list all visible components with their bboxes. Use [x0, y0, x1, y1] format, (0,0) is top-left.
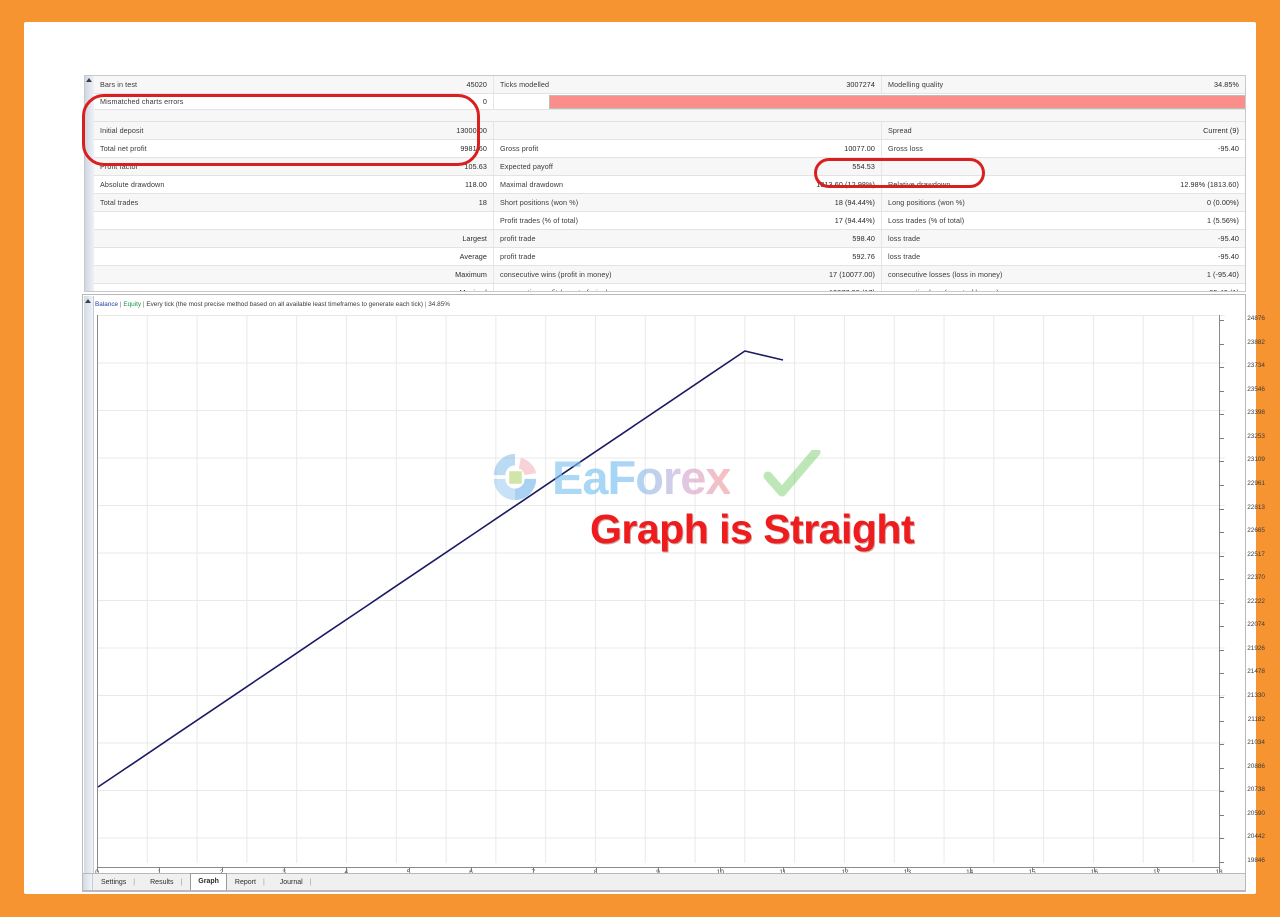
tab-settings[interactable]: Settings| [94, 876, 142, 890]
report-label: Total trades [100, 194, 138, 211]
report-value: -95.40 [1218, 140, 1239, 157]
report-label: Short positions (won %) [500, 194, 578, 211]
report-value: 1 (5.56%) [1207, 212, 1239, 229]
report-cell-c2: Profit trades (% of total)17 (94.44%) [494, 212, 882, 229]
report-value: 554.53 [852, 158, 875, 175]
report-row-spacer [94, 110, 1245, 122]
app-background: Bars in test45020Ticks modelled3007274Mo… [0, 0, 1280, 917]
strategy-tester-report: Bars in test45020Ticks modelled3007274Mo… [84, 75, 1246, 292]
report-label: consecutive loss (count of losses) [888, 284, 999, 292]
y-axis-tick-label: 22665 [1247, 527, 1265, 534]
report-value: 18 (94.44%) [835, 194, 875, 211]
report-label: Modelling quality [888, 76, 943, 93]
y-axis-tick-label: 21330 [1247, 692, 1265, 699]
report-label: Gross loss [888, 140, 923, 157]
y-axis-tick-label: 21034 [1247, 739, 1265, 746]
report-value: 13077.20 (17) [829, 284, 875, 292]
report-label: consecutive losses (loss in money) [888, 266, 1002, 283]
report-cell-c1: Average [94, 248, 494, 265]
report-value: 17 (10077.00) [829, 266, 875, 283]
report-cell-c3: Long positions (won %)0 (0.00%) [882, 194, 1245, 211]
report-row: Initial deposit13000.00SpreadCurrent (9) [94, 122, 1245, 140]
report-cell-c3: SpreadCurrent (9) [882, 122, 1245, 139]
y-axis-tick-label: 23882 [1247, 339, 1265, 346]
report-cell-c3: loss trade-95.40 [882, 248, 1245, 265]
report-value: -95.40 (1) [1207, 284, 1239, 292]
callout-text: Graph is Straight [590, 506, 914, 553]
y-axis-tick-label: 23546 [1247, 386, 1265, 393]
report-label: Profit trades (% of total) [500, 212, 578, 229]
report-cell-c2: Maximal drawdown1813.60 (12.98%) [494, 176, 882, 193]
y-axis-tick-label: 20442 [1247, 833, 1265, 840]
report-label: profit trade [500, 248, 536, 265]
report-value: -95.40 [1218, 248, 1239, 265]
report-cell-c2: Short positions (won %)18 (94.44%) [494, 194, 882, 211]
report-value: 45020 [467, 76, 488, 93]
report-value: 12.98% (1813.60) [1180, 176, 1239, 193]
report-cell-c2: profit trade598.40 [494, 230, 882, 247]
y-axis-tick-label: 22517 [1247, 551, 1265, 558]
y-axis-tick-label: 21182 [1248, 716, 1265, 723]
report-label: Ticks modelled [500, 76, 549, 93]
report-cell-c2: Ticks modelled3007274 [494, 76, 882, 93]
report-label: Relative drawdown [888, 176, 950, 193]
report-cell-c1: Bars in test45020 [94, 76, 494, 93]
report-row: Profit trades (% of total)17 (94.44%)Los… [94, 212, 1245, 230]
report-label: profit trade [500, 230, 536, 247]
report-row: Averageprofit trade592.76loss trade-95.4… [94, 248, 1245, 266]
balance-curve [83, 295, 1247, 893]
report-label: Bars in test [100, 76, 137, 93]
tab-label: Settings [101, 879, 126, 886]
report-cell-c1: Maximal [94, 284, 494, 292]
report-value: 1 (-95.40) [1207, 266, 1239, 283]
graph-panel: Balance | Equity | Every tick (the most … [82, 294, 1246, 892]
report-label: Gross profit [500, 140, 538, 157]
report-cell-c3: consecutive loss (count of losses)-95.40… [882, 284, 1245, 292]
y-axis-tick-label: 20886 [1247, 763, 1265, 770]
tabbar-scroll[interactable] [83, 874, 93, 890]
report-cell-c3: consecutive losses (loss in money)1 (-95… [882, 266, 1245, 283]
report-row: Total trades18Short positions (won %)18 … [94, 194, 1245, 212]
y-axis-tick-label: 23734 [1247, 362, 1265, 369]
report-cell-c2 [494, 122, 882, 139]
report-cell-c1: Largest [94, 230, 494, 247]
report-row: Absolute drawdown118.00Maximal drawdown1… [94, 176, 1245, 194]
report-row-mismatched-errors: Mismatched charts errors0 [94, 94, 1245, 110]
tab-divider: | [173, 879, 182, 886]
report-value: 118.00 [465, 176, 487, 193]
report-cell-c2: consecutive wins (profit in money)17 (10… [494, 266, 882, 283]
tab-divider: | [126, 879, 135, 886]
report-label: consecutive profit (count of wins) [500, 284, 608, 292]
tester-tabbar: Settings|Results|GraphReport|Journal| [82, 873, 1246, 891]
tab-label: Journal [280, 879, 303, 886]
report-cell-c2: profit trade592.76 [494, 248, 882, 265]
tab-journal[interactable]: Journal| [273, 876, 319, 890]
report-value: Largest [462, 230, 487, 247]
report-value: 10077.00 [844, 140, 875, 157]
report-row: Maximalconsecutive profit (count of wins… [94, 284, 1245, 292]
report-cell-label: Mismatched charts errors0 [94, 94, 494, 109]
report-label: Total net profit [100, 140, 147, 157]
report-value: 3007274 [846, 76, 875, 93]
tab-label: Results [150, 879, 173, 886]
report-label: Profit factor [100, 158, 138, 175]
tab-divider: | [256, 879, 265, 886]
report-label: Long positions (won %) [888, 194, 965, 211]
y-axis-tick-label: 23253 [1247, 433, 1265, 440]
report-label: loss trade [888, 248, 920, 265]
report-value: 592.76 [852, 248, 875, 265]
report-label: Loss trades (% of total) [888, 212, 964, 229]
report-label: Mismatched charts errors [100, 97, 183, 106]
y-axis-tick-label: 22222 [1247, 598, 1265, 605]
y-axis-tick-label: 20738 [1247, 786, 1265, 793]
report-value: 0 (0.00%) [1207, 194, 1239, 211]
report-value: 9981.60 [460, 140, 487, 157]
report-cell-c3 [882, 158, 1245, 175]
y-axis-tick-label: 24876 [1247, 315, 1265, 322]
y-axis-tick-label: 22370 [1247, 574, 1265, 581]
report-cell-c3: loss trade-95.40 [882, 230, 1245, 247]
report-cell-c3: Gross loss-95.40 [882, 140, 1245, 157]
report-value: 13000.00 [456, 122, 487, 139]
tab-report[interactable]: Report| [228, 876, 272, 890]
tab-results[interactable]: Results| [143, 876, 189, 890]
report-label: consecutive wins (profit in money) [500, 266, 612, 283]
report-cell-c1: Absolute drawdown118.00 [94, 176, 494, 193]
report-value: Current (9) [1203, 122, 1239, 139]
report-row: Total net profit9981.60Gross profit10077… [94, 140, 1245, 158]
y-axis-tick-label: 22961 [1247, 480, 1265, 487]
report-value: 598.40 [852, 230, 875, 247]
report-value: 1813.60 (12.98%) [816, 176, 875, 193]
report-row: Largestprofit trade598.40loss trade-95.4… [94, 230, 1245, 248]
report-value: 17 (94.44%) [835, 212, 875, 229]
y-axis-tick-label: 22813 [1247, 504, 1265, 511]
tab-list: Settings|Results|GraphReport|Journal| [93, 873, 319, 890]
report-value: -95.40 [1218, 230, 1239, 247]
report-value: 34.85% [1214, 76, 1239, 93]
report-label: Initial deposit [100, 122, 143, 139]
modelling-quality-bar [549, 95, 1246, 109]
report-value: 18 [479, 194, 487, 211]
report-label: Expected payoff [500, 158, 553, 175]
report-cell-c2: Expected payoff554.53 [494, 158, 882, 175]
y-axis-tick-label: 19846 [1247, 857, 1265, 864]
report-rows: Bars in test45020Ticks modelled3007274Mo… [94, 76, 1245, 291]
report-cell-c2: consecutive profit (count of wins)13077.… [494, 284, 882, 292]
y-axis-tick-label: 20590 [1247, 810, 1265, 817]
report-label: Absolute drawdown [100, 176, 164, 193]
tab-label: Graph [198, 878, 219, 885]
report-row: Bars in test45020Ticks modelled3007274Mo… [94, 76, 1245, 94]
report-cell-c1: Total net profit9981.60 [94, 140, 494, 157]
report-label: loss trade [888, 230, 920, 247]
report-label: Spread [888, 122, 912, 139]
y-axis-tick-label: 23398 [1247, 409, 1265, 416]
report-row: Profit factor105.63Expected payoff554.53 [94, 158, 1245, 176]
report-cell-c3: Loss trades (% of total)1 (5.56%) [882, 212, 1245, 229]
report-cell-c1: Maximum [94, 266, 494, 283]
report-value: Average [460, 248, 487, 265]
report-value: Maximum [455, 266, 487, 283]
report-value: 0 [483, 97, 487, 106]
y-axis-tick-label: 21926 [1247, 645, 1265, 652]
report-cell-c1: Total trades18 [94, 194, 494, 211]
tab-divider: | [303, 879, 312, 886]
report-row: Maximumconsecutive wins (profit in money… [94, 266, 1245, 284]
y-axis-tick-label: 23109 [1247, 456, 1265, 463]
report-cell-c1: Initial deposit13000.00 [94, 122, 494, 139]
report-cell-c3: Modelling quality34.85% [882, 76, 1245, 93]
scroll-up-arrow-icon[interactable] [86, 78, 92, 82]
y-axis-tick-label: 22074 [1247, 621, 1265, 628]
y-axis-tick-label: 21478 [1247, 668, 1265, 675]
report-value: Maximal [460, 284, 487, 292]
tab-label: Report [235, 879, 256, 886]
report-cell-c3: Relative drawdown12.98% (1813.60) [882, 176, 1245, 193]
tab-graph[interactable]: Graph [190, 873, 227, 890]
balance-line [98, 351, 783, 787]
report-label: Maximal drawdown [500, 176, 563, 193]
report-cell-c1 [94, 212, 494, 229]
report-cell-c2: Gross profit10077.00 [494, 140, 882, 157]
report-value: 105.63 [464, 158, 487, 175]
report-cell-c1: Profit factor105.63 [94, 158, 494, 175]
screenshot-card: Bars in test45020Ticks modelled3007274Mo… [24, 22, 1256, 894]
